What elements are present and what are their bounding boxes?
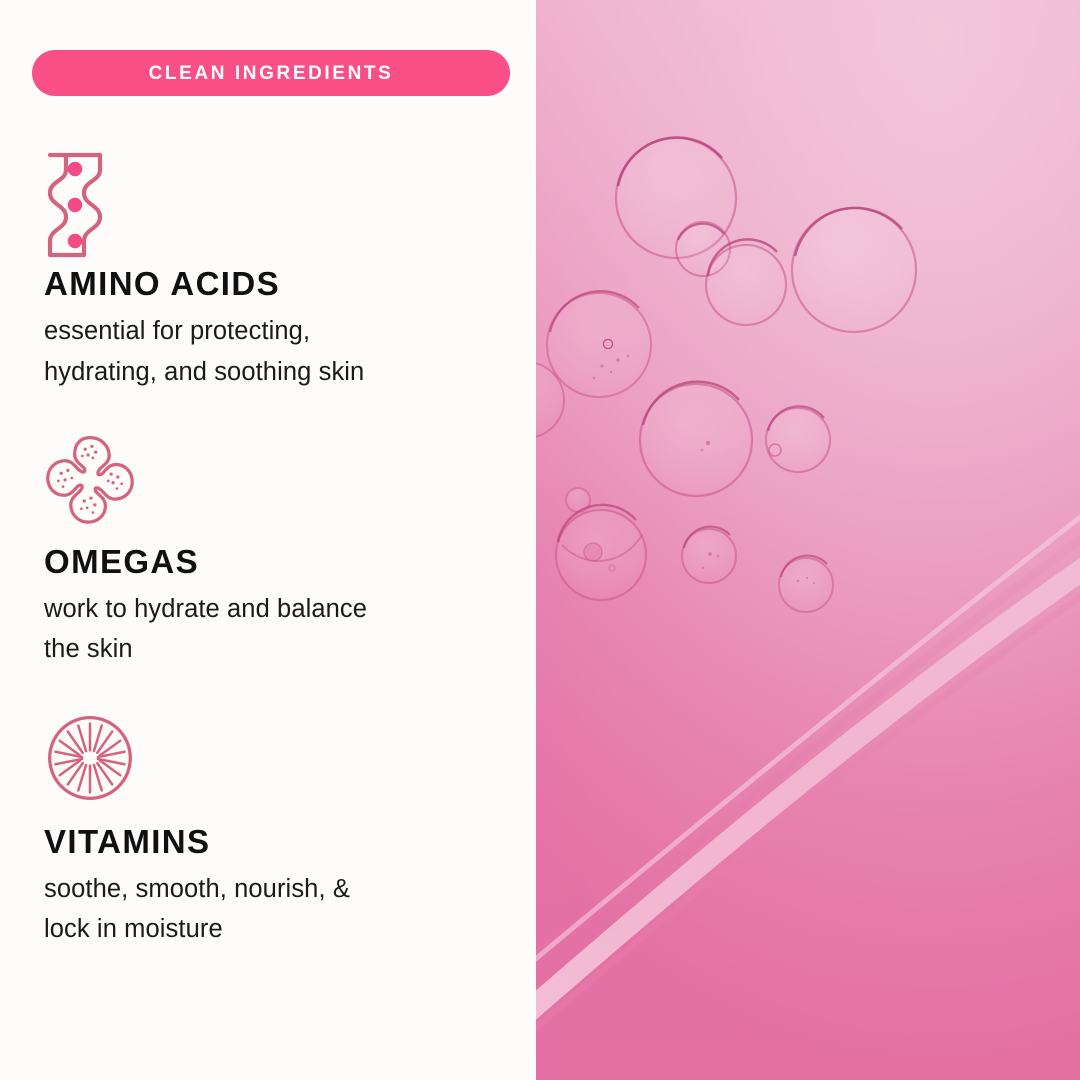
- clean-ingredients-badge: CLEAN INGREDIENTS: [32, 50, 510, 96]
- vitamin-burst-icon: [42, 708, 138, 818]
- ingredient-title: OMEGAS: [44, 544, 536, 580]
- bubble-cluster: [536, 0, 1080, 1080]
- pink-serum-bubbles-photo: [536, 0, 1080, 1080]
- ingredient-description: work to hydrate and balance the skin: [44, 589, 474, 670]
- omega-clover-icon: [42, 428, 138, 538]
- ingredients-panel: CLEAN INGREDIENTS AMINO ACIDS essential …: [0, 0, 536, 1080]
- clean-ingredients-infographic: CLEAN INGREDIENTS AMINO ACIDS essential …: [0, 0, 1080, 1080]
- ingredient-title: VITAMINS: [44, 824, 536, 860]
- ingredient-item-amino-acids: AMINO ACIDS essential for protecting, hy…: [0, 150, 536, 392]
- peptide-chain-icon: [42, 150, 138, 260]
- ingredient-item-vitamins: VITAMINS soothe, smooth, nourish, & lock…: [0, 708, 536, 950]
- ingredient-list: AMINO ACIDS essential for protecting, hy…: [0, 150, 536, 976]
- ingredient-title: AMINO ACIDS: [44, 266, 536, 302]
- ingredient-item-omegas: OMEGAS work to hydrate and balance the s…: [0, 428, 536, 670]
- ingredient-description: essential for protecting, hydrating, and…: [44, 311, 474, 392]
- ingredient-description: soothe, smooth, nourish, & lock in moist…: [44, 869, 474, 950]
- badge-label: CLEAN INGREDIENTS: [149, 64, 394, 83]
